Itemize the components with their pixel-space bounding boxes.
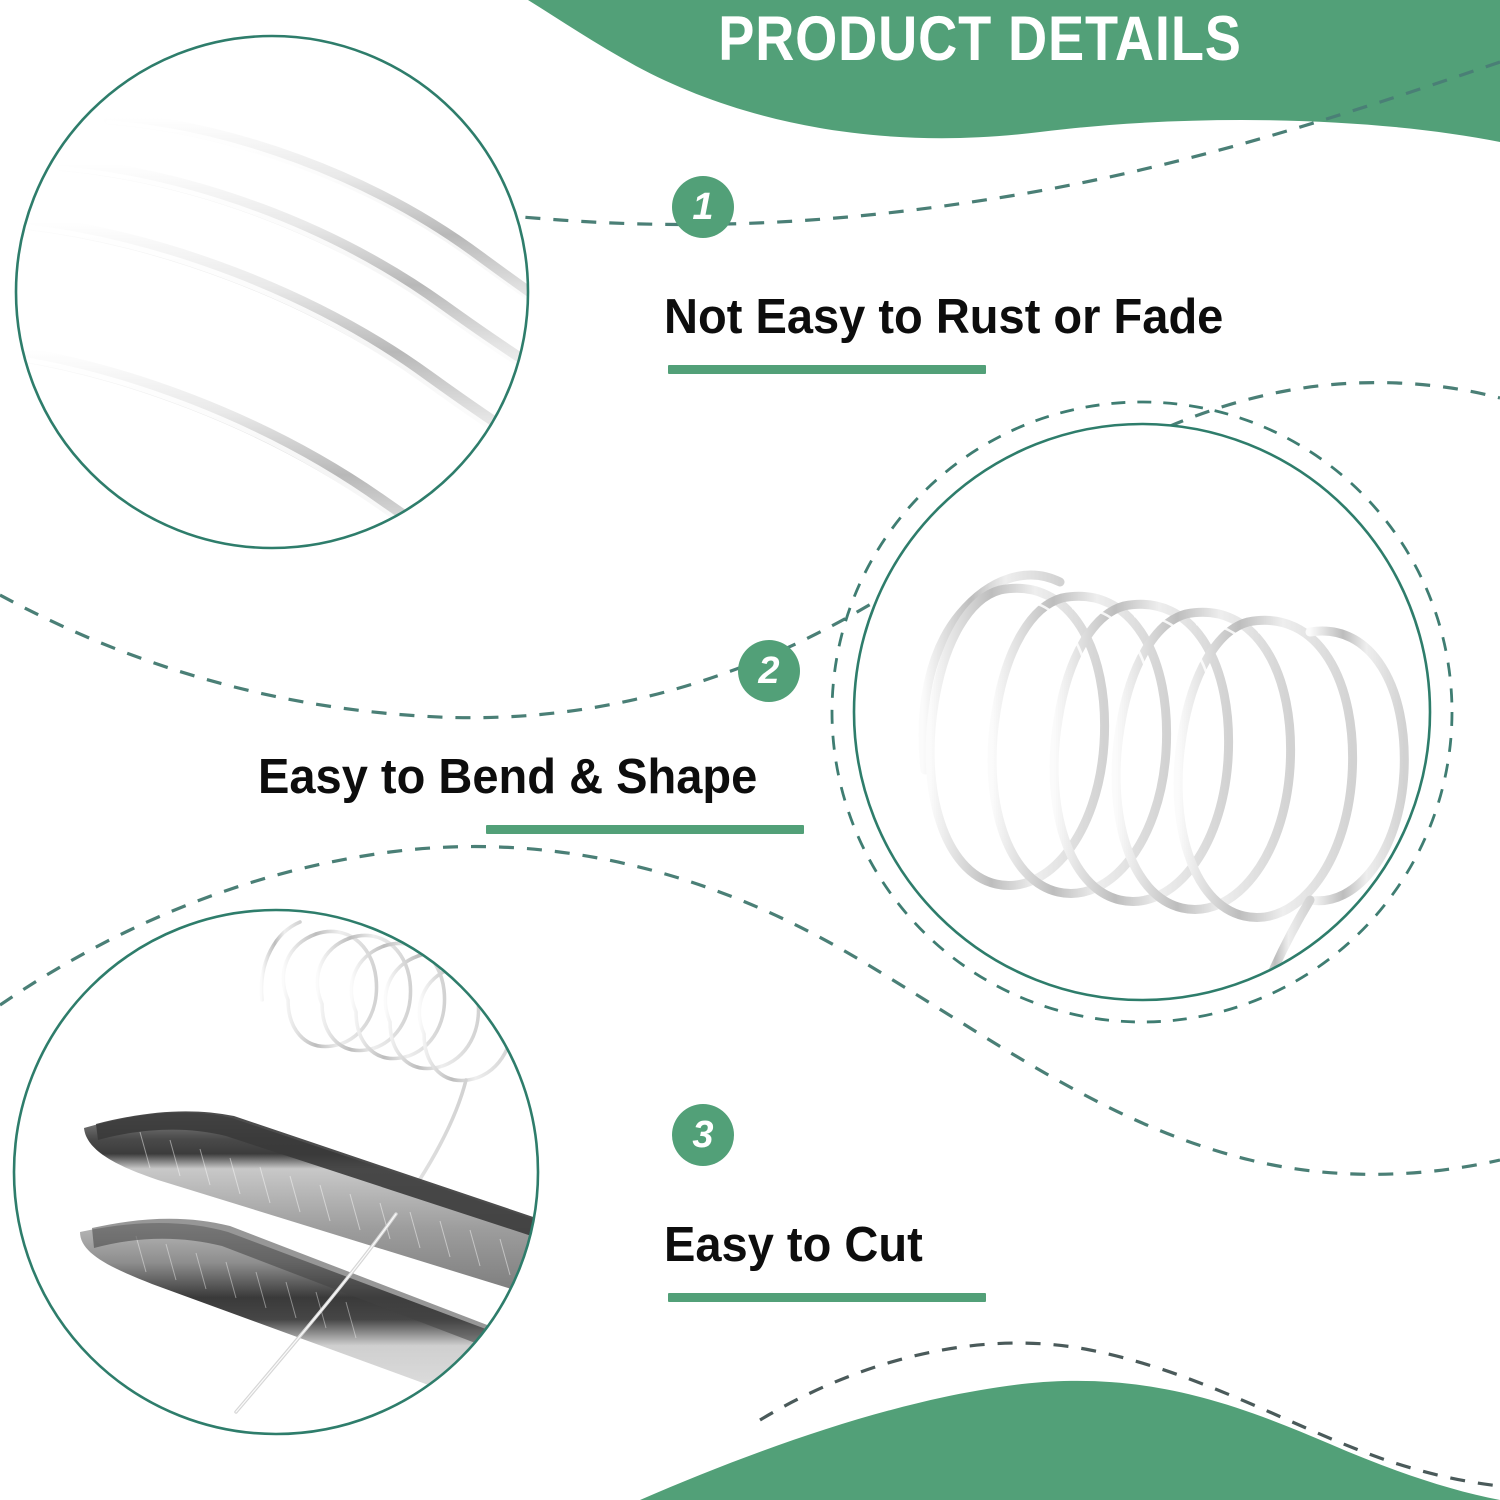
feature-block-1: 1 Not Easy to Rust or Fade [672, 176, 1247, 374]
feature-number-badge-2: 2 [738, 640, 800, 702]
product-details-infographic: PRODUCT DETAILS 1 Not Easy to Rust or Fa… [0, 0, 1500, 1500]
feature-number-badge-3: 3 [672, 1104, 734, 1166]
footer-green-wave [640, 1381, 1500, 1500]
feature-underline-3 [668, 1293, 986, 1302]
feature-block-3: 3 Easy to Cut [672, 1104, 986, 1302]
feature-number-badge-1: 1 [672, 176, 734, 238]
feature-underline-2 [486, 825, 804, 834]
page-title: PRODUCT DETAILS [688, 8, 1273, 71]
feature-underline-1 [668, 365, 986, 374]
feature-title-2: Easy to Bend & Shape [258, 752, 784, 803]
feature-title-1: Not Easy to Rust or Fade [664, 292, 1223, 343]
feature-title-3: Easy to Cut [664, 1220, 973, 1271]
feature-block-2: 2 Easy to Bend & Shape [258, 640, 806, 834]
